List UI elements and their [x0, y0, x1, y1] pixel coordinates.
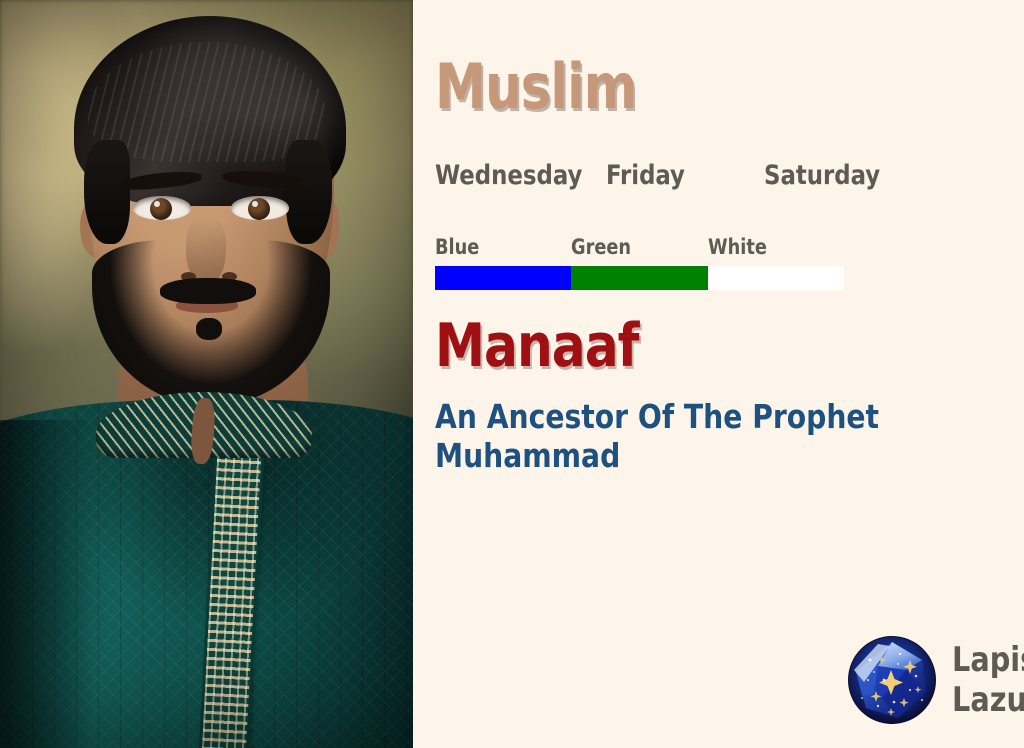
- person-name: Manaaf: [435, 316, 951, 376]
- garment-shadow: [0, 420, 94, 748]
- eye-left: [133, 196, 191, 220]
- info-panel: Muslim Wednesday Friday Saturday Blue Gr…: [413, 0, 1024, 748]
- lucky-colors-labels: Blue Green White: [435, 235, 844, 259]
- lucky-day-3: Saturday: [764, 160, 880, 191]
- lucky-days-row: Wednesday Friday Saturday: [435, 160, 990, 191]
- gemstone-icon: [848, 636, 936, 724]
- lucky-day-2: Friday: [606, 160, 685, 191]
- sideburn-left: [84, 140, 130, 244]
- lucky-day-1: Wednesday: [435, 160, 582, 191]
- name-meaning: An Ancestor Of The Prophet Muhammad: [435, 398, 910, 476]
- eye-right: [231, 196, 289, 220]
- lucky-color-swatch-green: [571, 266, 707, 290]
- portrait-photo: [0, 0, 413, 748]
- name-info-card: Muslim Wednesday Friday Saturday Blue Gr…: [0, 0, 1024, 748]
- lucky-color-label-1: Blue: [435, 235, 563, 259]
- lucky-stone-name: Lapis Lazuli: [952, 640, 1024, 720]
- soul-patch-shape: [196, 318, 222, 340]
- lucky-colors-block: Blue Green White: [435, 235, 844, 290]
- sideburn-right: [286, 140, 332, 244]
- lucky-color-swatch-blue: [435, 266, 571, 290]
- iris-right: [248, 198, 270, 220]
- moustache-shape: [160, 278, 256, 304]
- lucky-color-label-3: White: [708, 235, 836, 259]
- iris-left: [150, 198, 172, 220]
- lucky-color-label-2: Green: [571, 235, 699, 259]
- lucky-color-swatch-white: [708, 266, 844, 290]
- religion-title: Muslim: [435, 56, 946, 118]
- lucky-stone-row: Lapis Lazuli: [848, 636, 1024, 724]
- lucky-colors-bar: [435, 266, 844, 290]
